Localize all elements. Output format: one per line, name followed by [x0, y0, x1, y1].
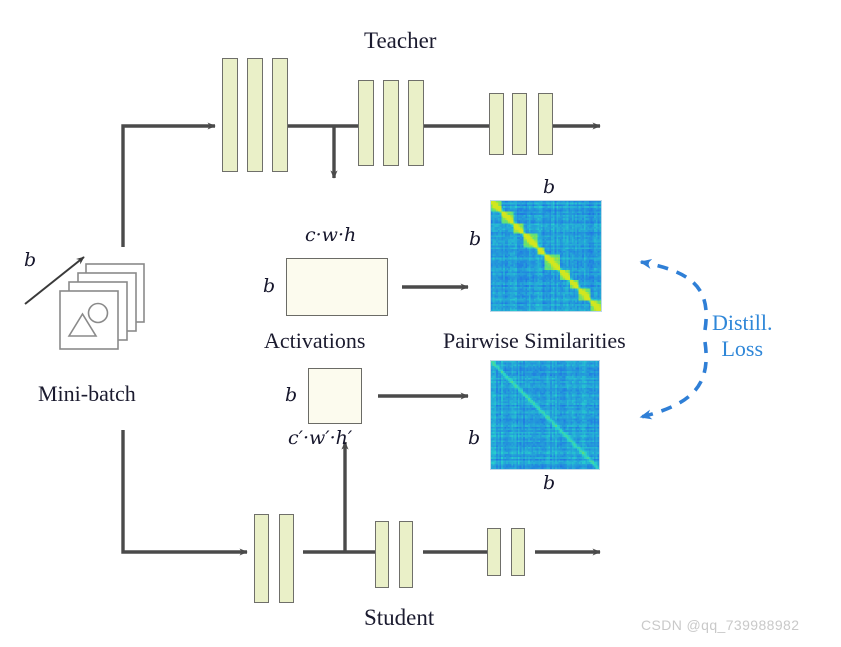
teacher-layer-1-bar-3: [272, 58, 288, 172]
student-matrix-left-label: b: [468, 427, 480, 449]
loss-to-teacher-arrow: [641, 262, 706, 330]
student-activation-rows: b: [285, 384, 297, 406]
student-activation-dims: c′·w′·h′: [288, 427, 352, 449]
student-layer-1-bar-1: [254, 514, 269, 603]
pairwise-similarities-label: Pairwise Similarities: [443, 328, 626, 354]
student-matrix-bottom-label: b: [543, 472, 555, 494]
input-to-student-wire: [123, 430, 247, 552]
teacher-layer-3-bar-2: [512, 93, 527, 155]
distill-loss-line-1: Distill.: [712, 310, 773, 336]
teacher-title: Teacher: [364, 28, 436, 54]
student-layer-2-bar-1: [375, 521, 389, 588]
distillation-diagram: Teacher Student Mini-batch b Activations…: [0, 0, 841, 647]
loss-to-student-arrow: [641, 342, 706, 417]
student-layer-1-bar-2: [279, 514, 294, 603]
student-layer-3-bar-2: [511, 528, 525, 576]
teacher-layer-3-bar-3: [538, 93, 553, 155]
distill-loss-line-2: Loss: [712, 336, 773, 362]
teacher-activation-rows: b: [263, 275, 275, 297]
mini-batch-dim-label: b: [24, 249, 36, 271]
distill-loss-label: Distill. Loss: [712, 310, 773, 362]
student-layer-3-bar-1: [487, 528, 501, 576]
student-similarity-matrix: [490, 360, 600, 470]
teacher-layer-2-bar-2: [383, 80, 399, 166]
teacher-activations-box: [286, 258, 388, 316]
batch-card-1: [60, 291, 118, 349]
watermark-label: CSDN @qq_739988982: [641, 617, 799, 633]
teacher-layer-2-bar-1: [358, 80, 374, 166]
student-layer-2-bar-2: [399, 521, 413, 588]
teacher-layer-1-bar-1: [222, 58, 238, 172]
teacher-layer-1-bar-2: [247, 58, 263, 172]
student-activations-box: [308, 368, 362, 424]
teacher-matrix-top-label: b: [543, 176, 555, 198]
input-to-teacher-wire: [123, 126, 215, 247]
activations-label: Activations: [264, 328, 365, 354]
teacher-activation-dims: c·w·h: [305, 224, 356, 246]
teacher-layer-2-bar-3: [408, 80, 424, 166]
teacher-similarity-matrix: [490, 200, 602, 312]
teacher-matrix-left-label: b: [469, 228, 481, 250]
mini-batch-label: Mini-batch: [38, 381, 136, 407]
student-title: Student: [364, 605, 434, 631]
mini-batch-stack: [55, 258, 165, 363]
teacher-layer-3-bar-1: [489, 93, 504, 155]
